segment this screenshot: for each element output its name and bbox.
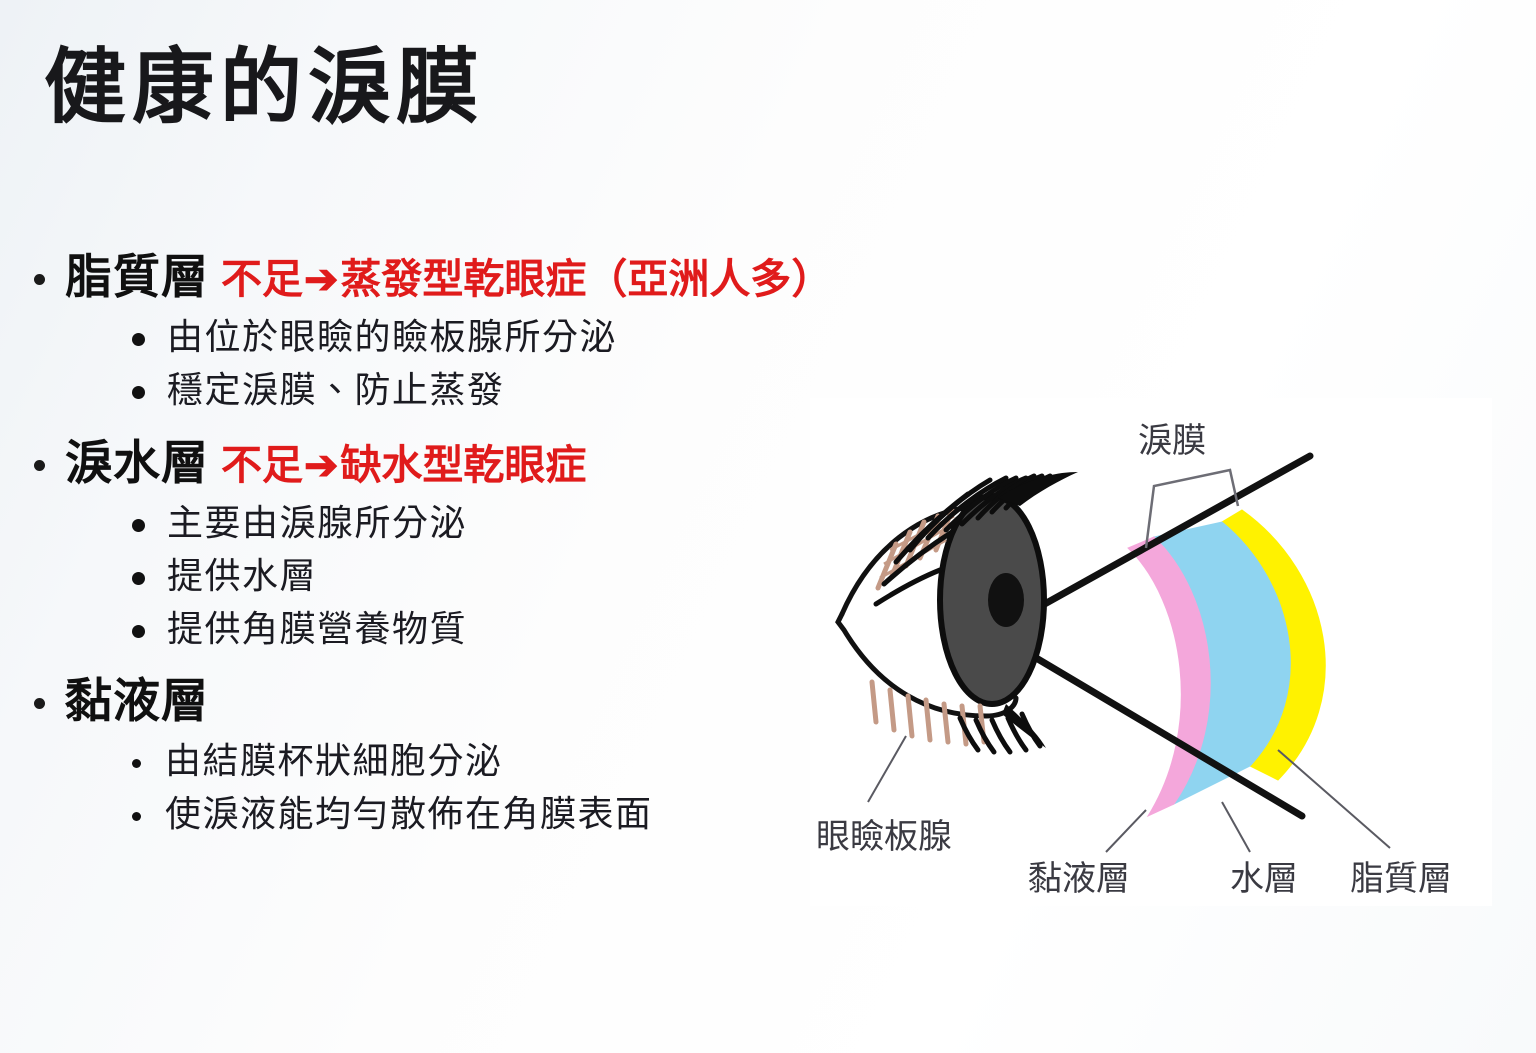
label-meibomian-gland: 眼瞼板腺 [816, 818, 952, 856]
outline-item-aqueous-layer: 淚水層不足➔缺水型乾眼症 [34, 434, 814, 494]
outline-item-mucin-layer: 黏液層 [34, 672, 814, 732]
tear-film-diagram: 淚膜 眼瞼板腺 黏液層 水層 脂質層 [810, 398, 1492, 906]
label-aqueous-layer: 水層 [1230, 860, 1298, 898]
outline-note-before-arrow: 不足 [221, 442, 303, 488]
outline-subitem-label: 由結膜杯狀細胞分泌 [165, 738, 503, 785]
content-outline: 脂質層不足➔蒸發型乾眼症（亞洲人多） 由位於眼瞼的瞼板腺所分泌 穩定淚膜、防止蒸… [34, 248, 814, 844]
sub-bullet-dot-icon [132, 386, 145, 399]
outline-subitem-label: 由位於眼瞼的瞼板腺所分泌 [167, 314, 617, 361]
right-arrow-icon: ➔ [303, 256, 340, 302]
sub-bullet-dot-icon [132, 759, 141, 768]
page-title: 健康的淚膜 [44, 42, 484, 134]
outline-subitem-label: 提供水層 [167, 553, 317, 600]
sub-bullet-dot-icon [132, 572, 145, 585]
outline-subitem-label: 主要由淚腺所分泌 [167, 500, 467, 547]
outline-heading: 黏液層 [65, 672, 209, 732]
outline-subitem: 由位於眼瞼的瞼板腺所分泌 [132, 314, 814, 361]
outline-heading-text: 淚水層 [65, 438, 209, 490]
outline-item-lipid-layer: 脂質層不足➔蒸發型乾眼症（亞洲人多） [34, 248, 814, 308]
outline-note-after-arrow: 缺水型乾眼症 [340, 442, 586, 488]
outline-subitem: 穩定淚膜、防止蒸發 [132, 367, 814, 414]
outline-subitem: 由結膜杯狀細胞分泌 [132, 738, 814, 785]
sub-bullet-dot-icon [132, 625, 145, 638]
bullet-dot-icon [34, 274, 45, 285]
sub-bullet-dot-icon [132, 333, 145, 346]
label-tear-film: 淚膜 [1138, 422, 1206, 460]
outline-subitem: 使淚液能均勻散佈在角膜表面 [132, 791, 814, 838]
outline-heading-text: 黏液層 [65, 676, 209, 728]
outline-heading: 脂質層不足➔蒸發型乾眼症（亞洲人多） [65, 248, 832, 308]
sub-bullet-dot-icon [132, 519, 145, 532]
outline-heading: 淚水層不足➔缺水型乾眼症 [65, 434, 586, 494]
sub-bullet-dot-icon [132, 812, 141, 821]
slide-canvas: 健康的淚膜 脂質層不足➔蒸發型乾眼症（亞洲人多） 由位於眼瞼的瞼板腺所分泌 穩定… [0, 0, 1536, 1053]
label-mucin-layer: 黏液層 [1028, 860, 1130, 898]
bullet-dot-icon [34, 698, 45, 709]
section-spacer [34, 658, 814, 672]
right-arrow-icon: ➔ [303, 442, 340, 488]
outline-subitem: 提供水層 [132, 553, 814, 600]
outline-subitem: 主要由淚腺所分泌 [132, 500, 814, 547]
outline-note-before-arrow: 不足 [221, 256, 303, 302]
outline-heading-text: 脂質層 [65, 252, 209, 304]
outline-subitem-label: 穩定淚膜、防止蒸發 [167, 367, 505, 414]
outline-note-after-arrow: 蒸發型乾眼症（亞洲人多） [340, 256, 832, 302]
outline-subitem: 提供角膜營養物質 [132, 606, 814, 653]
bullet-dot-icon [34, 460, 45, 471]
label-lipid-layer: 脂質層 [1350, 860, 1452, 898]
diagram-svg: 淚膜 眼瞼板腺 黏液層 水層 脂質層 [810, 398, 1492, 906]
section-spacer [34, 420, 814, 434]
outline-subitem-label: 使淚液能均勻散佈在角膜表面 [165, 791, 653, 838]
outline-subitem-label: 提供角膜營養物質 [167, 606, 467, 653]
pupil [988, 573, 1024, 627]
